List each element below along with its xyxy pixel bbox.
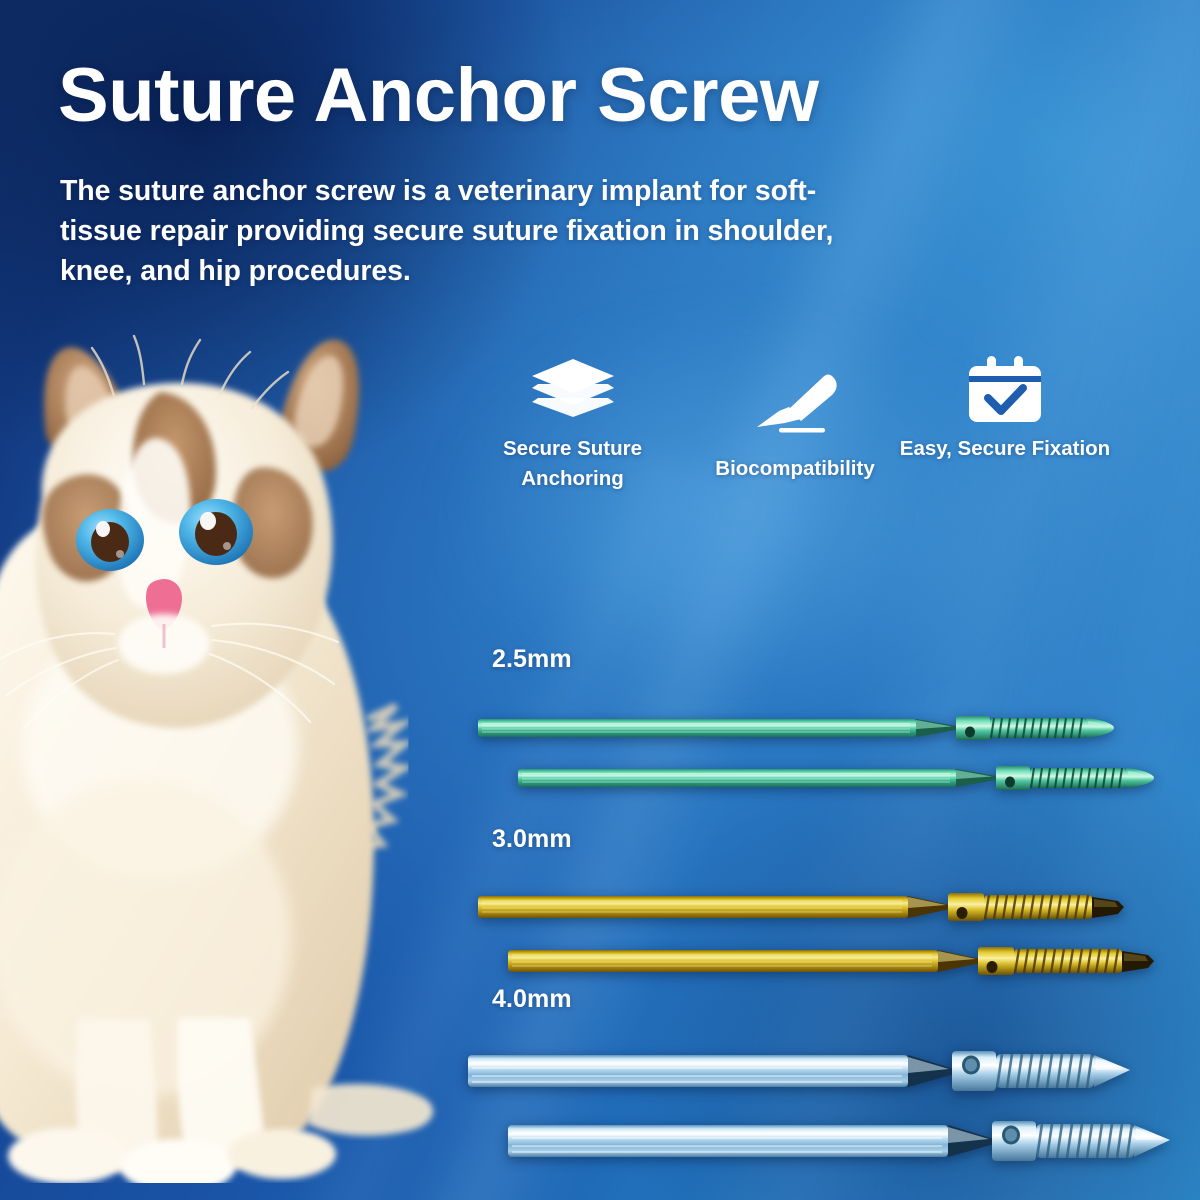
feature-list: Secure Suture Anchoring Biocompatibility: [455, 352, 1135, 542]
screw-4-0mm: [468, 1042, 1136, 1102]
screw-2-5mm: [518, 758, 1158, 798]
calendar-check-icon: [880, 352, 1130, 424]
poster-canvas: Suture Anchor Screw The suture anchor sc…: [0, 0, 1200, 1200]
product-size-label: 3.0mm: [492, 825, 572, 854]
ragdoll-cat-image: [0, 318, 482, 1183]
screw-3-0mm: [508, 938, 1160, 984]
product-group-2-5mm: 2.5mm: [470, 645, 572, 800]
screw-3-0mm: [478, 884, 1130, 930]
product-group-3-0mm: 3.0mm: [470, 825, 572, 990]
product-size-label: 4.0mm: [492, 985, 572, 1014]
product-size-label: 2.5mm: [492, 645, 572, 674]
screw-2-5mm: [478, 708, 1118, 748]
product-group-4-0mm: 4.0mm: [470, 985, 572, 1190]
page-subtitle: The suture anchor screw is a veterinary …: [60, 172, 890, 292]
screw-4-0mm: [508, 1112, 1176, 1172]
page-title: Suture Anchor Screw: [58, 56, 819, 136]
feature-easy-secure-fixation: Easy, Secure Fixation: [880, 352, 1130, 464]
feature-label: Easy, Secure Fixation: [880, 434, 1130, 464]
